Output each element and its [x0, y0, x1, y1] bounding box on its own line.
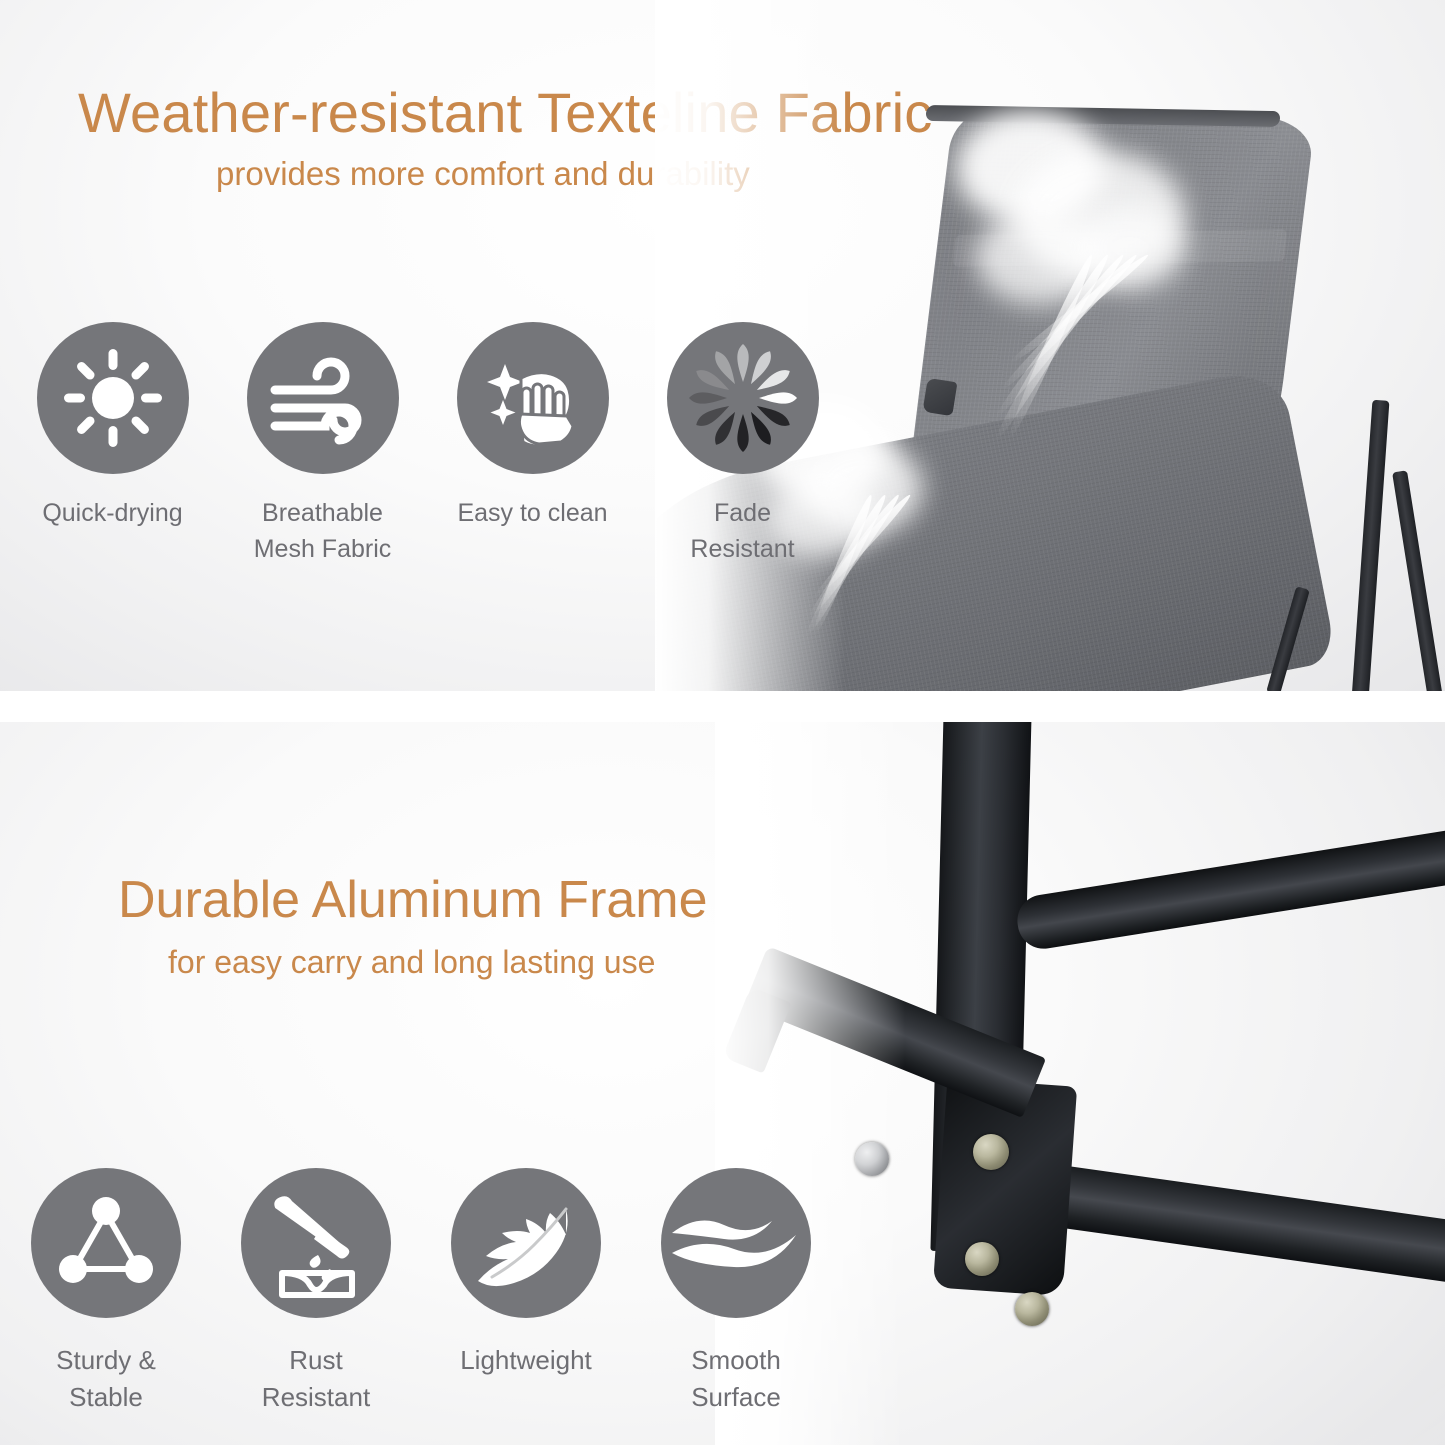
color-wheel-icon [667, 322, 819, 474]
photo-vignette [715, 722, 1445, 1445]
lounger-leg [1392, 470, 1443, 691]
frame-leg-end-cap [722, 987, 791, 1074]
frame-rivet [965, 1242, 999, 1276]
section-frame-title: Durable Aluminum Frame [118, 870, 708, 930]
hand-wipe-icon [457, 322, 609, 474]
section-fabric: Weather-resistant Texteline Fabric provi… [0, 0, 1445, 691]
wind-icon [247, 322, 399, 474]
frame-horizontal-tube [1014, 826, 1445, 953]
feature-fade-resistant: Fade Resistant [660, 322, 825, 567]
feature-label: Smooth Surface [652, 1342, 820, 1416]
feature-label: Sturdy & Stable [22, 1342, 190, 1416]
lounger-leg [1352, 400, 1390, 691]
feature-label: Quick-drying [42, 496, 182, 532]
frame-rivet [855, 1142, 889, 1176]
section-frame: Durable Aluminum Frame for easy carry an… [0, 722, 1445, 1445]
frame-rivet [1015, 1292, 1049, 1326]
wave-lines-icon [661, 1168, 811, 1318]
feature-quick-drying: Quick-drying [30, 322, 195, 567]
feature-sturdy-stable: Sturdy & Stable [22, 1168, 190, 1416]
section-frame-subtitle: for easy carry and long lasting use [168, 944, 655, 981]
feature-breathable-mesh: Breathable Mesh Fabric [240, 322, 405, 567]
feature-rust-resistant: Rust Resistant [232, 1168, 400, 1416]
section-divider [0, 691, 1445, 722]
frame-lower-rail [1013, 1160, 1445, 1287]
feature-label: Easy to clean [457, 496, 607, 532]
feather-icon [451, 1168, 601, 1318]
feature-label: Rust Resistant [232, 1342, 400, 1416]
feature-label: Breathable Mesh Fabric [254, 496, 392, 567]
test-tube-drip-icon [241, 1168, 391, 1318]
fabric-feature-list: Quick-drying Breathable Mesh Fabric [30, 322, 825, 567]
feature-lightweight: Lightweight [442, 1168, 610, 1416]
feature-easy-to-clean: Easy to clean [450, 322, 615, 567]
triangle-nodes-icon [31, 1168, 181, 1318]
lounger-side-knob [923, 378, 958, 416]
frame-rivet [973, 1134, 1009, 1170]
feature-smooth-surface: Smooth Surface [652, 1168, 820, 1416]
sun-icon [37, 322, 189, 474]
infographic-page: Weather-resistant Texteline Fabric provi… [0, 0, 1445, 1445]
frame-feature-list: Sturdy & Stable Rust Resistant [22, 1168, 820, 1416]
feature-label: Fade Resistant [660, 496, 825, 567]
black-aluminum-frame-joint-photo [715, 722, 1445, 1445]
feature-label: Lightweight [460, 1342, 592, 1379]
